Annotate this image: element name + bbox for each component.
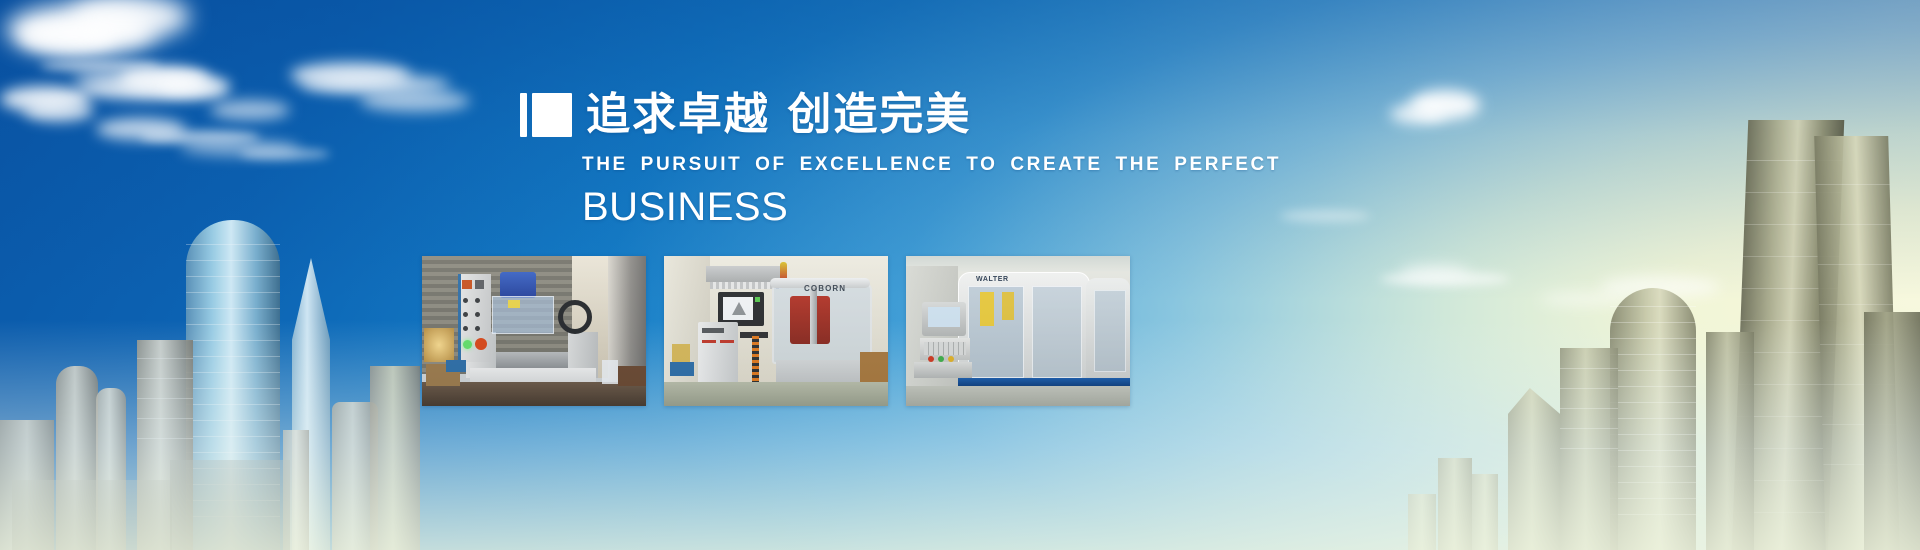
headline-block: 追求卓越 创造完美 THE PURSUIT OF EXCELLENCE TO C… — [520, 92, 1220, 229]
photo-coborn-rotary-grinder[interactable]: COBORN — [664, 256, 888, 406]
keyword-business: BUSINESS — [582, 185, 1220, 229]
machine-photo-strip: COBORN WALTER — [422, 256, 1130, 406]
bar-square-logo-icon — [520, 93, 572, 137]
headline-chinese: 追求卓越 创造完美 — [586, 92, 971, 138]
hero-banner: 追求卓越 创造完美 THE PURSUIT OF EXCELLENCE TO C… — [0, 0, 1920, 550]
photo-walter-tool-grinder[interactable]: WALTER — [906, 256, 1130, 406]
photo-surface-grinding-machine[interactable] — [422, 256, 646, 406]
subtitle-english: THE PURSUIT OF EXCELLENCE TO CREATE THE … — [582, 154, 1220, 176]
